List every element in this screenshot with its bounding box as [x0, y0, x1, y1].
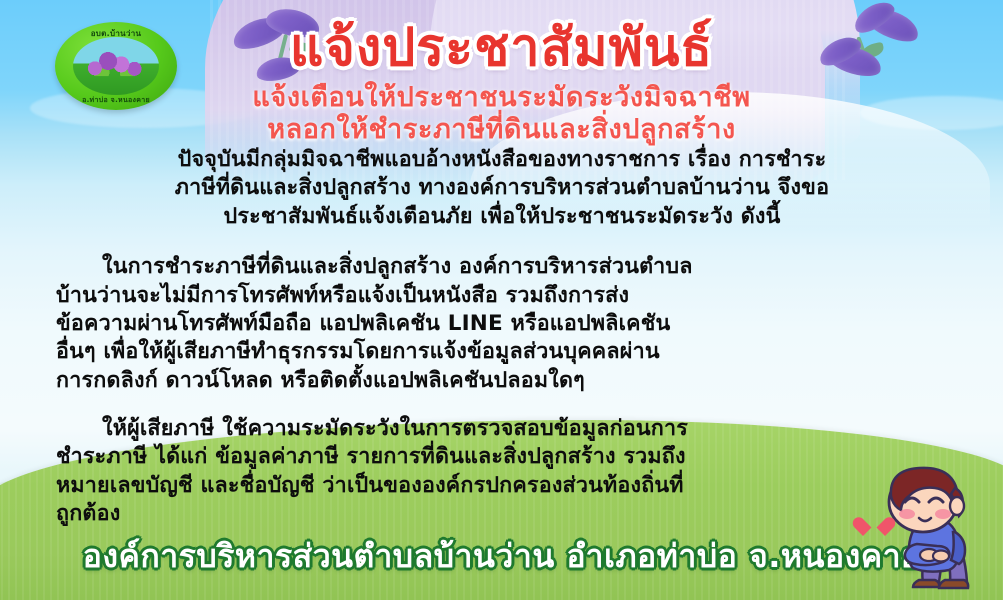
paragraph-3-line-4: ถูกต้อง: [56, 500, 946, 528]
paragraph-3-line-2: ชำระภาษี ได้แก่ ข้อมูลค่าภาษี รายการที่ด…: [56, 443, 946, 471]
paragraph-3-line-3: หมายเลขบัญชี และชื่อบัญชี ว่าเป็นขององค์…: [56, 472, 946, 500]
paragraph-2-line-1: ในการชำระภาษีที่ดินและสิ่งปลูกสร้าง องค์…: [56, 253, 946, 281]
paragraph-2-line-1-text: ในการชำระภาษีที่ดินและสิ่งปลูกสร้าง องค์…: [102, 254, 693, 279]
paragraph-1-line-2: ภาษีที่ดินและสิ่งปลูกสร้าง ทางองค์การบริ…: [28, 174, 976, 202]
paragraph-1-line-1: ปัจจุบันมีกลุ่มมิจฉาชีพแอบอ้างหนังสือของ…: [28, 146, 976, 174]
poster-title: แจ้งประชาสัมพันธ์: [0, 22, 1003, 74]
paragraph-2: ในการชำระภาษีที่ดินและสิ่งปลูกสร้าง องค์…: [56, 253, 946, 395]
paragraph-3: ให้ผู้เสียภาษี ใช้ความระมัดระวังในการตรว…: [56, 415, 946, 529]
announcement-poster: อบต.บ้านว่าน อ.ท่าบ่อ จ.หนองคาย แจ้งประช…: [0, 0, 1003, 600]
poster-subtitle: แจ้งเตือนให้ประชาชนระมัดระวังมิจฉาชีพ หล…: [0, 82, 1003, 146]
paragraph-2-line-4: อื่นๆ เพื่อให้ผู้เสียภาษีทำธุรกรรมโดยการ…: [56, 338, 946, 366]
poster-body: ปัจจุบันมีกลุ่มมิจฉาชีพแอบอ้างหนังสือของ…: [28, 146, 976, 529]
paragraph-2-line-2: บ้านว่านจะไม่มีการโทรศัพท์หรือแจ้งเป็นหน…: [56, 282, 946, 310]
subtitle-line-2: หลอกให้ชำระภาษีที่ดินและสิ่งปลูกสร้าง: [0, 114, 1003, 146]
heart-icon: [863, 518, 885, 538]
subtitle-line-1: แจ้งเตือนให้ประชาชนระมัดระวังมิจฉาชีพ: [0, 82, 1003, 114]
paragraph-3-line-1-text: ให้ผู้เสียภาษี ใช้ความระมัดระวังในการตรว…: [102, 416, 688, 441]
paragraph-3-line-1: ให้ผู้เสียภาษี ใช้ความระมัดระวังในการตรว…: [56, 415, 946, 443]
paragraph-2-line-3: ข้อความผ่านโทรศัพท์มือถือ แอปพลิเคชัน LI…: [56, 310, 946, 338]
paragraph-2-line-5: การกดลิงก์ ดาวน์โหลด หรือติดตั้งแอปพลิเค…: [56, 367, 946, 395]
paragraph-1: ปัจจุบันมีกลุ่มมิจฉาชีพแอบอ้างหนังสือของ…: [28, 146, 976, 231]
paragraph-1-line-3: ประชาสัมพันธ์แจ้งเตือนภัย เพื่อให้ประชาช…: [28, 203, 976, 231]
